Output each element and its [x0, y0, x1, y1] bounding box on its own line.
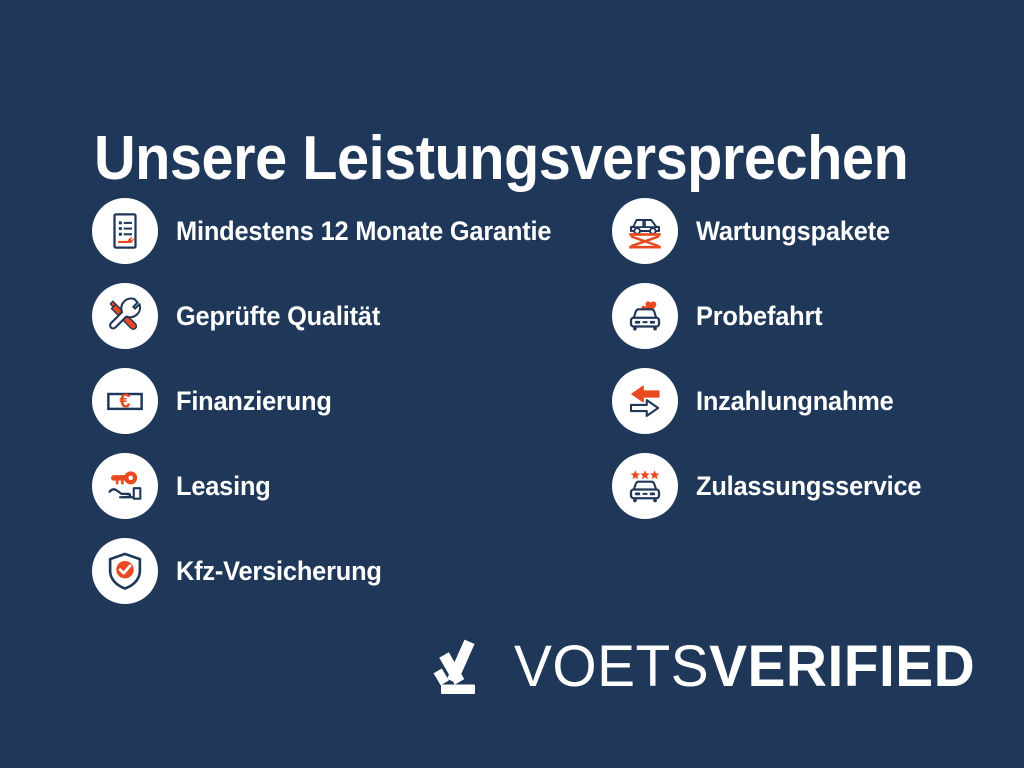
page-title: Unsere Leistungsversprechen — [94, 124, 912, 194]
feature-item-zulassungsservice[interactable]: Zulassungsservice — [612, 451, 1012, 521]
feature-item-kfz-versicherung[interactable]: Kfz-Versicherung — [92, 536, 612, 606]
car-lift-icon — [612, 198, 678, 264]
exchange-arrows-icon — [612, 368, 678, 434]
feature-item-probefahrt[interactable]: Probefahrt — [612, 281, 1012, 351]
feature-item-wartungspakete[interactable]: Wartungspakete — [612, 196, 1012, 266]
feature-label: Mindestens 12 Monate Garantie — [176, 216, 551, 246]
car-hearts-icon — [612, 283, 678, 349]
feature-label: Zulassungsservice — [696, 471, 921, 501]
car-stars-icon — [612, 453, 678, 519]
feature-item-leasing[interactable]: Leasing — [92, 451, 612, 521]
feature-label: Inzahlungnahme — [696, 386, 894, 416]
feature-item-geprufte-qualitat[interactable]: Geprüfte Qualität — [92, 281, 612, 351]
feature-item-inzahlungnahme[interactable]: Inzahlungnahme — [612, 366, 1012, 436]
feature-label: Wartungspakete — [696, 216, 890, 246]
voets-check-mark-icon — [430, 636, 492, 698]
wrench-screwdriver-icon — [92, 283, 158, 349]
voets-verified-promise-banner: Unsere Leistungsversprechen — [0, 0, 1024, 768]
svg-text:€: € — [119, 391, 130, 413]
feature-column-left: Mindestens 12 Monate Garantie Geprüfte Q… — [92, 196, 612, 621]
document-signature-icon — [92, 198, 158, 264]
feature-label: Probefahrt — [696, 301, 822, 331]
shield-check-icon — [92, 538, 158, 604]
feature-label: Finanzierung — [176, 386, 332, 416]
logo-word-voets: VOETS — [514, 634, 709, 699]
voets-verified-logo[interactable]: VOETSVERIFIED — [430, 636, 985, 698]
feature-label: Leasing — [176, 471, 271, 501]
feature-column-right: Wartungspakete — [612, 196, 1012, 536]
feature-item-garantie[interactable]: Mindestens 12 Monate Garantie — [92, 196, 612, 266]
feature-label: Geprüfte Qualität — [176, 301, 380, 331]
feature-item-finanzierung[interactable]: € Finanzierung — [92, 366, 612, 436]
logo-word-verified: VERIFIED — [709, 634, 975, 699]
feature-label: Kfz-Versicherung — [176, 556, 382, 586]
banknote-euro-icon: € — [92, 368, 158, 434]
logo-wordmark: VOETSVERIFIED — [514, 637, 975, 697]
hand-key-icon — [92, 453, 158, 519]
